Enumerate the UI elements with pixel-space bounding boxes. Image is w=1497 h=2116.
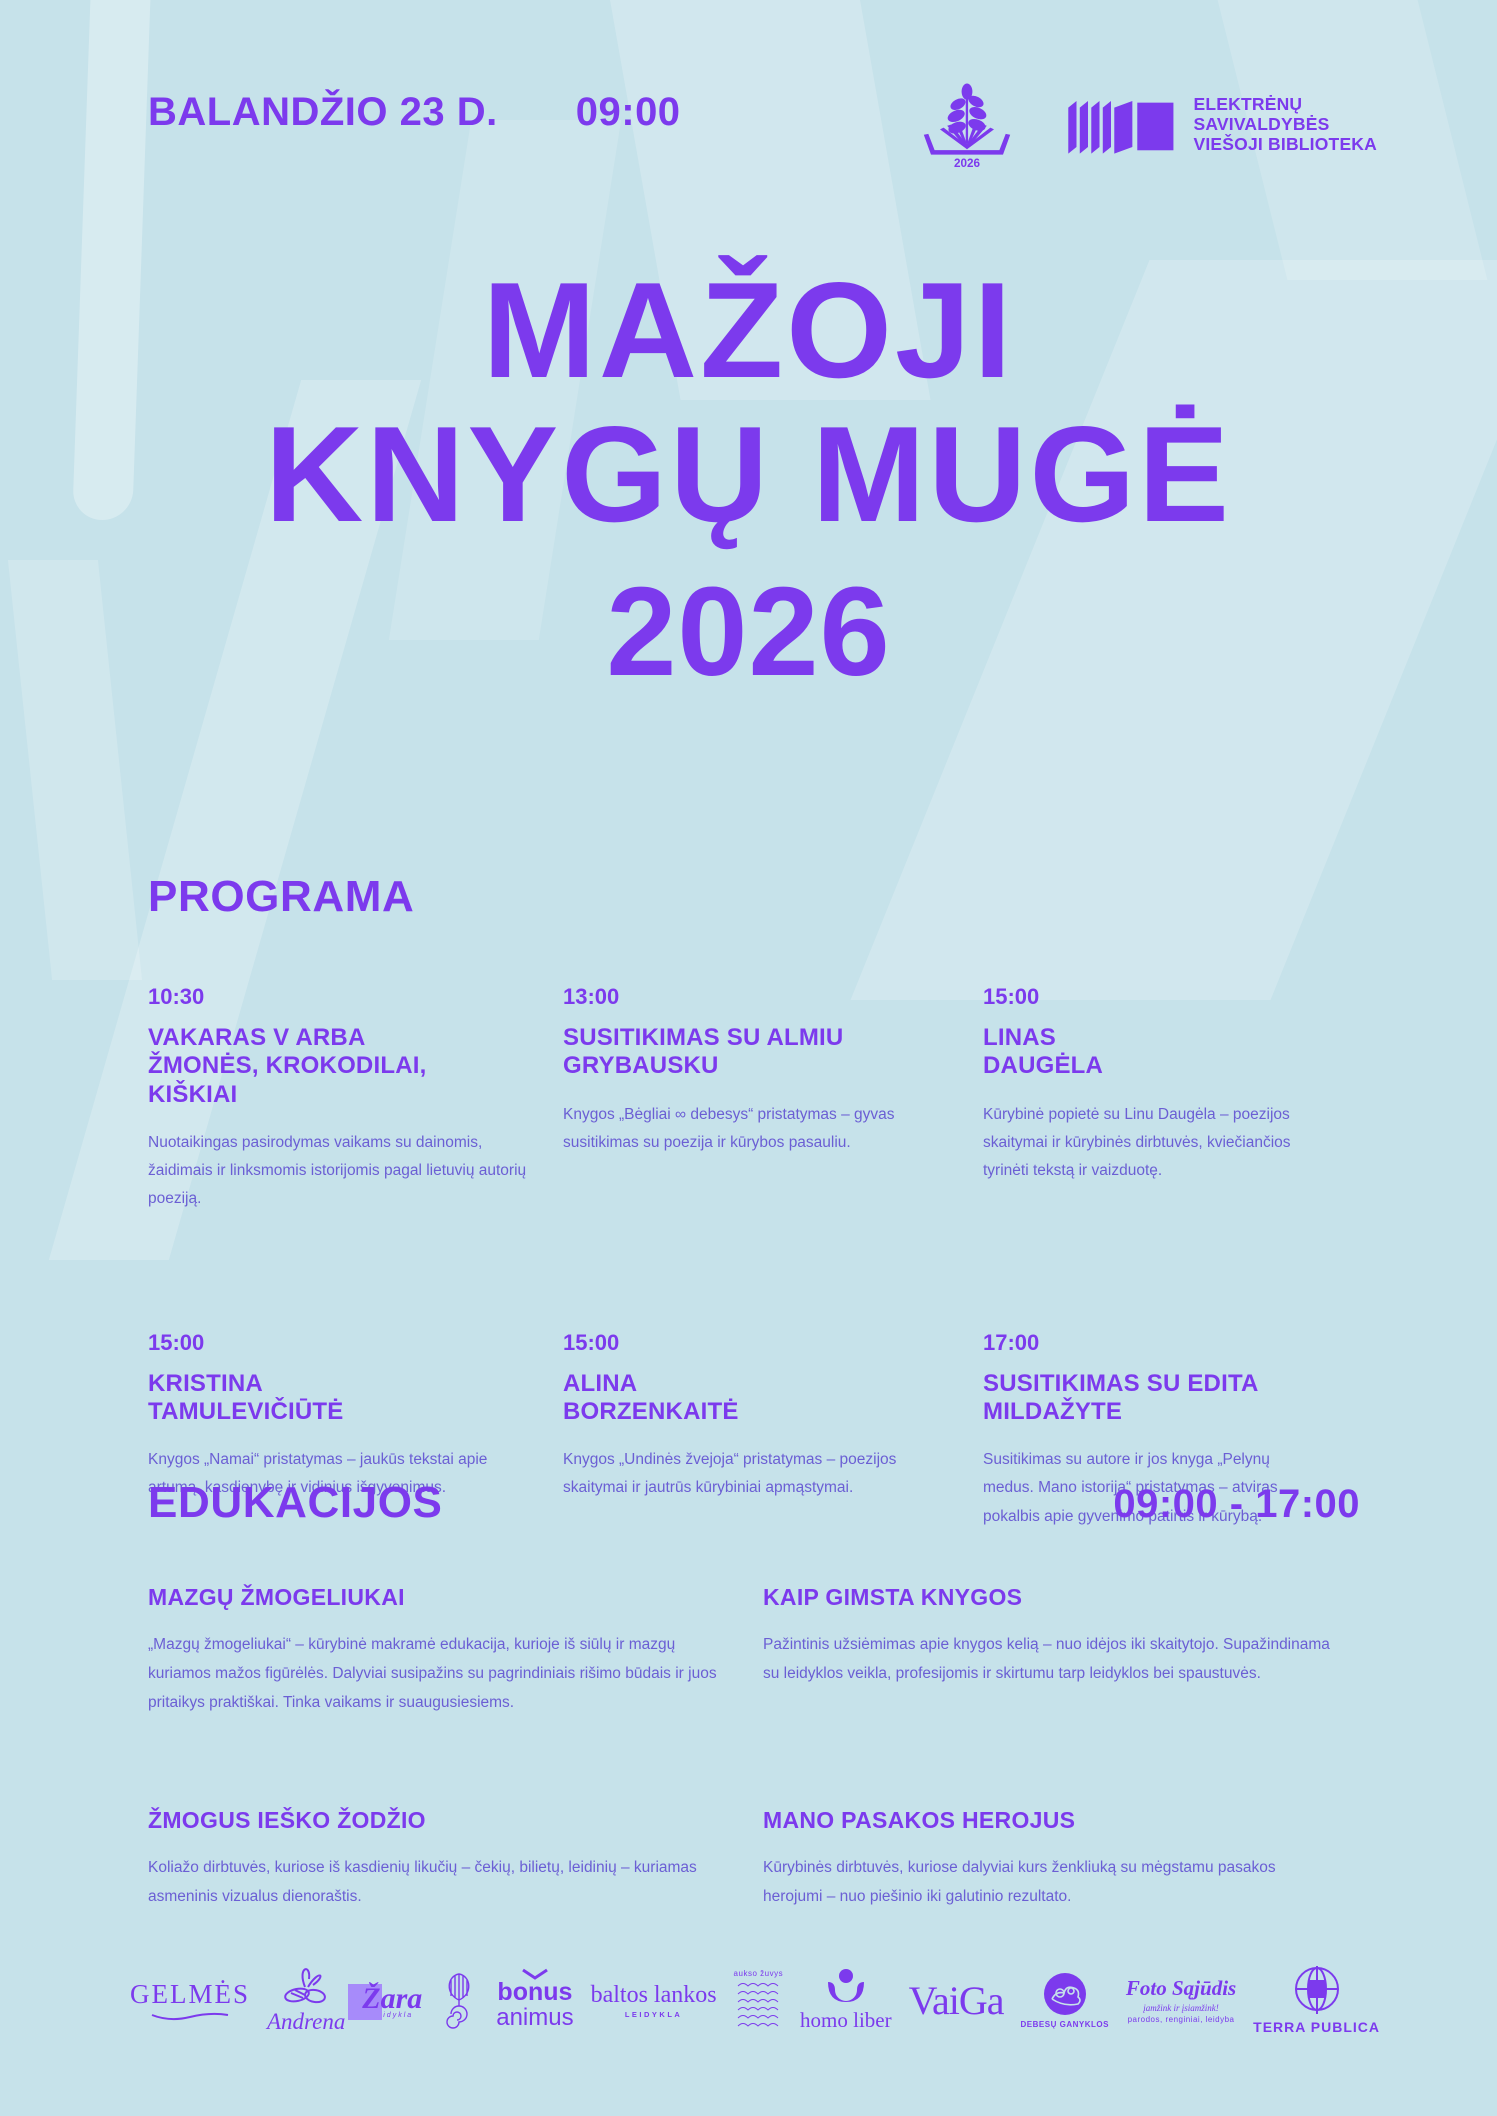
sponsor-logo-homo-liber: homo liber	[800, 1968, 892, 2033]
program-item: 10:30 VAKARAS V ARBA ŽMONĖS, KROKODILAI,…	[148, 984, 563, 1214]
fair-logo-year: 2026	[953, 157, 980, 170]
program-item-title: SUSITIKIMAS SU ALMIU GRYBAUSKU	[563, 1024, 949, 1081]
title-line-1: MAŽOJI	[0, 258, 1497, 402]
sponsor-subtitle-2: parodos, renginiai, leidyba	[1128, 2015, 1235, 2024]
sponsor-name: TERRA PUBLICA	[1253, 2019, 1380, 2035]
sponsor-subtitle: LEIDYKLA	[625, 2010, 683, 2019]
education-item-desc: Kūrybinės dirbtuvės, kuriose dalyviai ku…	[763, 1854, 1339, 1912]
education-item-title: KAIP GIMSTA KNYGOS	[763, 1584, 1339, 1611]
homo-liber-figure-icon	[824, 1968, 868, 2004]
education-item: ŽMOGUS IEŠKO ŽODŽIO Koliažo dirbtuvės, k…	[148, 1773, 743, 1912]
sponsor-logo-zara: Žara Leidykla	[362, 1982, 422, 2019]
education-item-title: MAZGŲ ŽMOGELIUKAI	[148, 1584, 719, 1611]
education-item: KAIP GIMSTA KNYGOS Pažintinis užsiėmimas…	[763, 1584, 1363, 1717]
event-date: BALANDŽIO 23 D.	[148, 90, 498, 135]
program-item-title: KRISTINA TAMULEVIČIŪTĖ	[148, 1370, 529, 1427]
sponsor-name: baltos lankos	[591, 1982, 717, 2009]
sponsor-logo-andrena: Andrena	[267, 1965, 345, 2035]
spiral-tree-icon	[439, 1970, 479, 2030]
bee-icon	[275, 1965, 337, 2011]
edukacijos-heading: EDUKACIJOS	[148, 1478, 443, 1528]
title-line-3: 2026	[0, 560, 1497, 704]
sponsor-name: homo liber	[800, 2008, 892, 2033]
program-item-title: SUSITIKIMAS SU EDITA MILDAŽYTE	[983, 1370, 1324, 1427]
library-logo: ELEKTRĖNŲ SAVIVALDYBĖS VIEŠOJI BIBLIOTEK…	[1065, 91, 1378, 157]
program-item-time: 15:00	[983, 984, 1324, 1010]
book-fair-emblem-icon: 2026	[913, 78, 1021, 170]
sponsor-name: VaiGa	[909, 1977, 1004, 2024]
sponsor-name: GELMĖS	[130, 1979, 250, 2010]
program-item: 15:00 LINAS DAUGĖLA Kūrybinė popietė su …	[983, 984, 1358, 1214]
education-item-title: MANO PASAKOS HEROJUS	[763, 1807, 1339, 1834]
sponsor-subtitle: animus	[496, 2005, 573, 2031]
sponsor-logo-baltos-lankos: baltos lankos LEIDYKLA	[591, 1982, 717, 2019]
logo-group: 2026 ELEKTRĖNŲ SAVIVALDYBĖS VIEŠOJI BIBL…	[913, 78, 1378, 170]
poster-root: BALANDŽIO 23 D. 09:00	[0, 0, 1497, 2116]
edukacijos-section: EDUKACIJOS 09:00 - 17:00 MAZGŲ ŽMOGELIUK…	[148, 1478, 1360, 1912]
sponsor-logo-aukso-zuvys: aukso žuvys	[734, 1969, 784, 2032]
program-item: 13:00 SUSITIKIMAS SU ALMIU GRYBAUSKU Kny…	[563, 984, 983, 1214]
sponsor-name: aukso žuvys	[734, 1969, 784, 1978]
sponsor-name: DEBESŲ GANYKLOS	[1021, 2020, 1109, 2029]
program-item-desc: Kūrybinė popietė su Linu Daugėla – poezi…	[983, 1101, 1324, 1186]
sponsor-logo-terra-publica: TERRA PUBLICA	[1253, 1965, 1380, 2035]
wave-icon	[150, 2012, 230, 2021]
sponsor-logo-debesu-ganyklos: DEBESŲ GANYKLOS	[1021, 1971, 1109, 2029]
program-item-time: 15:00	[563, 1330, 949, 1356]
program-item-time: 17:00	[983, 1330, 1324, 1356]
title-line-2: KNYGŲ MUGĖ	[0, 402, 1497, 546]
sponsor-subtitle: įamžink ir įsiamžink!	[1143, 2003, 1219, 2013]
edukacijos-grid-row-1: MAZGŲ ŽMOGELIUKAI „Mazgų žmogeliukai“ – …	[148, 1584, 1360, 1717]
education-item-title: ŽMOGUS IEŠKO ŽODŽIO	[148, 1807, 719, 1834]
program-item-time: 10:30	[148, 984, 529, 1010]
sponsor-name: Andrena	[267, 2009, 345, 2035]
program-item-desc: Nuotaikingas pasirodymas vaikams su dain…	[148, 1129, 529, 1214]
sponsor-logo-bonus-animus: bonus animus	[496, 1968, 573, 2031]
event-time: 09:00	[576, 90, 681, 135]
program-item-time: 15:00	[148, 1330, 529, 1356]
sponsor-logo-foto-sajudis: Foto Sąjūdis įamžink ir įsiamžink! parod…	[1126, 1976, 1236, 2024]
program-item-title: LINAS DAUGĖLA	[983, 1024, 1324, 1081]
programa-grid-row-1: 10:30 VAKARAS V ARBA ŽMONĖS, KROKODILAI,…	[148, 984, 1358, 1214]
program-item-desc: Knygos „Bėgliai ∞ debesys“ pristatymas –…	[563, 1101, 949, 1157]
education-item-desc: Pažintinis užsiėmimas apie knygos kelią …	[763, 1631, 1339, 1689]
program-item-title: VAKARAS V ARBA ŽMONĖS, KROKODILAI, KIŠKI…	[148, 1024, 529, 1109]
poster-title: MAŽOJI KNYGŲ MUGĖ 2026	[0, 258, 1497, 704]
program-item-title: ALINA BORZENKAITĖ	[563, 1370, 949, 1427]
education-item-desc: „Mazgų žmogeliukai“ – kūrybinė makramė e…	[148, 1631, 719, 1717]
sponsor-logo-spiral-tree	[439, 1970, 479, 2030]
globe-icon	[1293, 1965, 1341, 2015]
date-time-group: BALANDŽIO 23 D. 09:00	[148, 90, 681, 135]
fish-scales-icon	[737, 1980, 779, 2032]
cloud-seal-icon	[1042, 1971, 1088, 2017]
library-name: ELEKTRĖNŲ SAVIVALDYBĖS VIEŠOJI BIBLIOTEK…	[1194, 94, 1378, 155]
sponsor-name: Foto Sąjūdis	[1126, 1976, 1236, 2001]
program-item-time: 13:00	[563, 984, 949, 1010]
sponsor-logo-strip: GELMĖS Andrena Žara Leidy	[130, 1930, 1380, 2070]
poster-header: BALANDŽIO 23 D. 09:00	[0, 90, 1497, 170]
sponsor-logo-vaiga: VaiGa	[909, 1977, 1004, 2024]
sponsor-name: Žara	[362, 1982, 422, 2016]
education-item: MAZGŲ ŽMOGELIUKAI „Mazgų žmogeliukai“ – …	[148, 1584, 743, 1717]
education-item-desc: Koliažo dirbtuvės, kuriose iš kasdienių …	[148, 1854, 719, 1912]
programa-heading: PROGRAMA	[148, 872, 1358, 922]
edukacijos-hours: 09:00 - 17:00	[1113, 1482, 1360, 1527]
sponsor-name: bonus	[497, 1980, 572, 2005]
edukacijos-header-row: EDUKACIJOS 09:00 - 17:00	[148, 1478, 1360, 1528]
education-item: MANO PASAKOS HEROJUS Kūrybinės dirbtuvės…	[763, 1773, 1363, 1912]
library-books-icon	[1065, 91, 1180, 157]
edukacijos-grid-row-2: ŽMOGUS IEŠKO ŽODŽIO Koliažo dirbtuvės, k…	[148, 1773, 1360, 1912]
programa-section: PROGRAMA 10:30 VAKARAS V ARBA ŽMONĖS, KR…	[148, 872, 1358, 1531]
sponsor-logo-gelmes: GELMĖS	[130, 1979, 250, 2021]
